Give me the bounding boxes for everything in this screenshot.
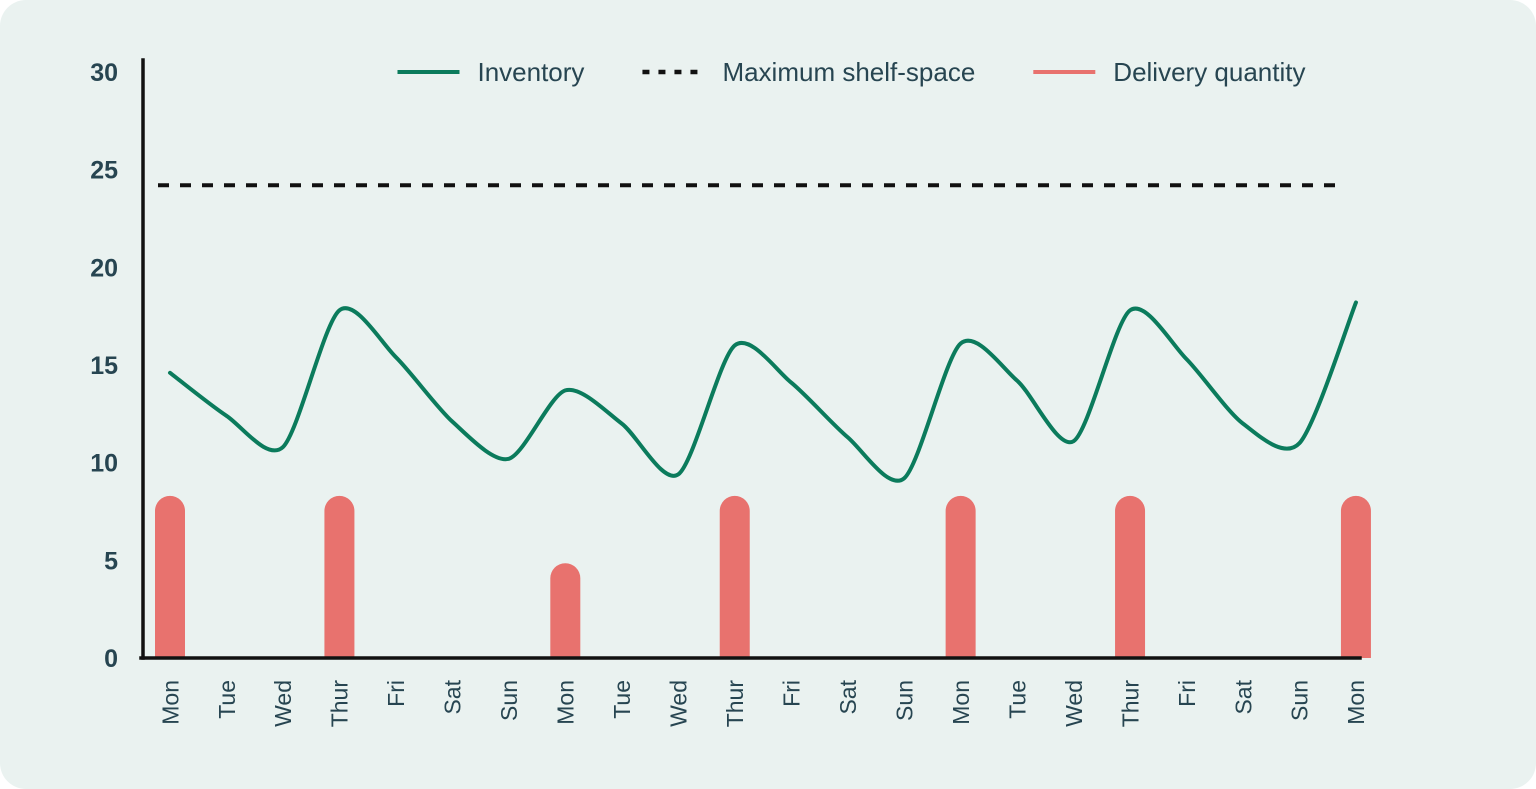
- x-tick-label: Fri: [778, 680, 804, 707]
- chart-axes: [141, 60, 1360, 658]
- x-tick-label: Tue: [609, 680, 635, 719]
- y-tick-label: 20: [90, 254, 118, 282]
- legend-item[interactable]: Maximum shelf-space: [642, 57, 975, 87]
- x-tick-label: Mon: [553, 680, 579, 725]
- x-tick-label: Sun: [496, 680, 522, 721]
- y-tick-label: 30: [90, 59, 118, 87]
- delivery-quantity-bar: [324, 496, 354, 658]
- legend-label: Inventory: [477, 57, 584, 87]
- delivery-quantity-bars: [155, 496, 1371, 658]
- x-tick-label: Sat: [835, 679, 861, 714]
- x-tick-label: Sat: [440, 679, 466, 714]
- x-axis-tick-labels: MonTueWedThurFriSatSunMonTueWedThurFriSa…: [157, 679, 1369, 727]
- y-tick-label: 0: [104, 645, 118, 673]
- legend-item[interactable]: Inventory: [397, 57, 584, 87]
- y-tick-label: 10: [90, 450, 118, 478]
- x-tick-label: Mon: [948, 680, 974, 725]
- legend-label: Delivery quantity: [1113, 57, 1305, 87]
- legend-item[interactable]: Delivery quantity: [1033, 57, 1305, 87]
- x-tick-label: Sun: [1287, 680, 1313, 721]
- x-tick-label: Wed: [270, 680, 296, 727]
- x-tick-label: Tue: [1004, 680, 1030, 719]
- x-tick-label: Mon: [1343, 680, 1369, 725]
- chart-legend: InventoryMaximum shelf-spaceDelivery qua…: [397, 57, 1305, 87]
- delivery-quantity-bar: [550, 563, 580, 658]
- y-axis-tick-labels: 051015202530: [90, 59, 118, 673]
- chart-card: InventoryMaximum shelf-spaceDelivery qua…: [0, 0, 1536, 789]
- y-tick-label: 15: [90, 352, 118, 380]
- inventory-delivery-chart: InventoryMaximum shelf-spaceDelivery qua…: [0, 0, 1536, 789]
- y-tick-label: 5: [104, 547, 118, 575]
- x-tick-label: Mon: [157, 680, 183, 725]
- delivery-quantity-bar: [1341, 496, 1371, 658]
- delivery-quantity-bar: [1115, 496, 1145, 658]
- x-tick-label: Thur: [1117, 680, 1143, 728]
- x-tick-label: Fri: [383, 680, 409, 707]
- inventory-line-series: [170, 302, 1356, 480]
- inventory-curve: [170, 302, 1356, 480]
- x-tick-label: Wed: [666, 680, 692, 727]
- x-tick-label: Sun: [891, 680, 917, 721]
- x-tick-label: Wed: [1061, 680, 1087, 727]
- x-tick-label: Fri: [1174, 680, 1200, 707]
- x-tick-label: Tue: [214, 680, 240, 719]
- x-tick-label: Thur: [327, 680, 353, 728]
- delivery-quantity-bar: [720, 496, 750, 658]
- y-tick-label: 25: [90, 157, 118, 185]
- x-tick-label: Sat: [1230, 679, 1256, 714]
- delivery-quantity-bar: [155, 496, 185, 658]
- legend-label: Maximum shelf-space: [722, 57, 975, 87]
- delivery-quantity-bar: [946, 496, 976, 658]
- x-tick-label: Thur: [722, 680, 748, 728]
